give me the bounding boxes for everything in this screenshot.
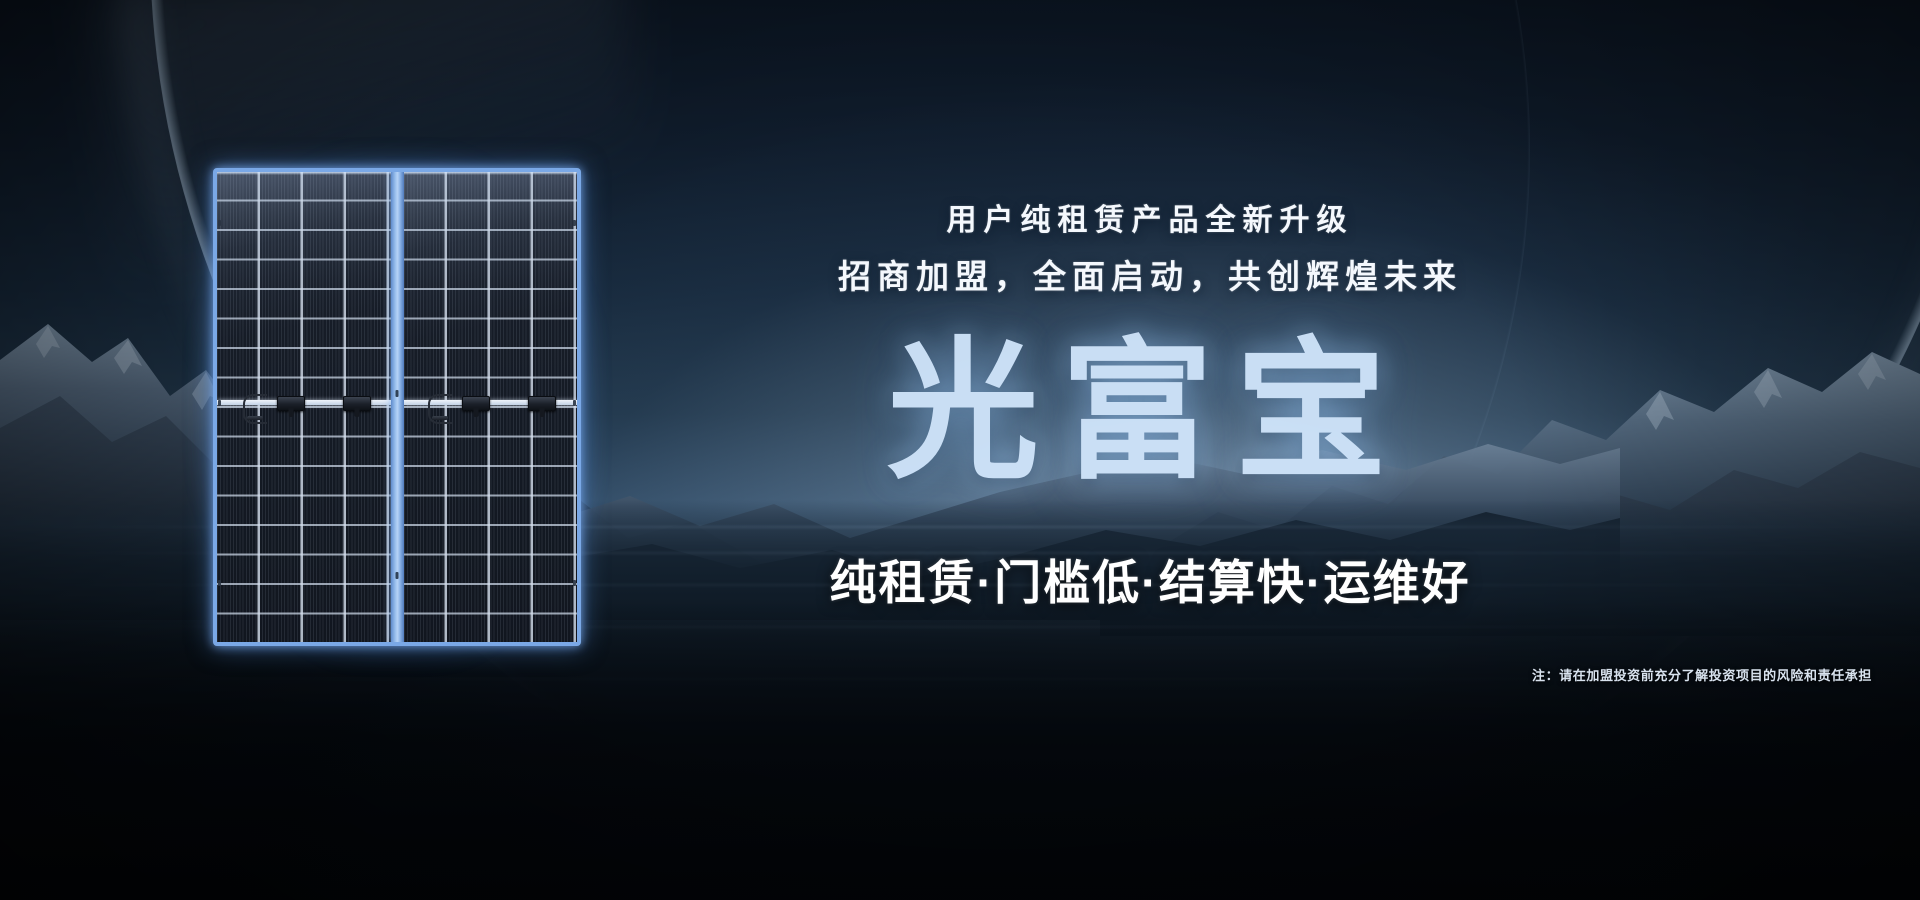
frame-screw [218, 400, 221, 406]
panel-top-highlight [217, 172, 391, 175]
cable-connector-tip [432, 416, 448, 420]
cable-connector-tip [247, 416, 263, 420]
frame-screw [573, 220, 576, 226]
panel-module-right [404, 172, 578, 642]
frame-screw [573, 400, 576, 406]
junction-box [528, 396, 556, 411]
poster-canvas: 用户纯租赁产品全新升级 招商加盟，全面启动，共创辉煌未来 光富宝 纯租赁·门槛低… [0, 0, 1920, 900]
frame-screw [218, 220, 221, 226]
panel-top-highlight [404, 172, 578, 175]
frame-screw [218, 580, 221, 586]
frame-screw [573, 580, 576, 586]
junction-box [462, 396, 490, 411]
panel-module-left [217, 172, 391, 642]
panel-frame [213, 168, 581, 646]
junction-box [277, 396, 305, 411]
solar-panel-product[interactable] [213, 168, 581, 646]
junction-box [343, 396, 371, 411]
module-divider [391, 172, 404, 642]
